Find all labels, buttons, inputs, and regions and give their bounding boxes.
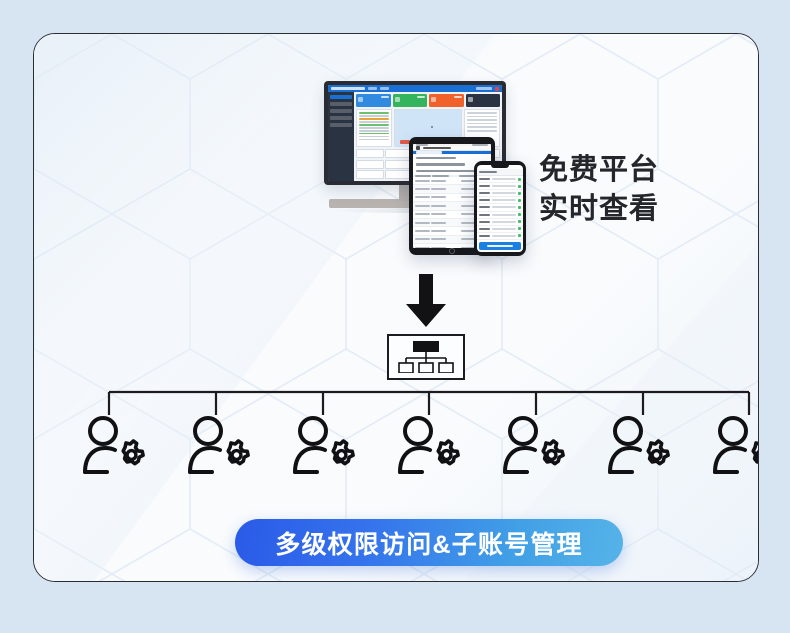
- phone-screen: [477, 165, 523, 252]
- user-gear-icon[interactable]: [711, 414, 759, 476]
- phone-header: [477, 169, 523, 176]
- detail-line: [467, 119, 497, 121]
- close-icon: [495, 87, 499, 91]
- device-tile: [356, 160, 384, 169]
- headline-line-1: 免费平台: [539, 151, 659, 190]
- list-item: [477, 183, 523, 190]
- list-item: [477, 197, 523, 204]
- tree-node: [359, 136, 389, 138]
- tree-node: [359, 112, 389, 114]
- status-ok-icon: [518, 213, 521, 216]
- user-gear-icon[interactable]: [81, 414, 147, 476]
- page-title: 免费平台 实时查看: [539, 151, 659, 229]
- list-item: [477, 204, 523, 211]
- monitor-sidebar: [328, 92, 354, 181]
- user-gear-icon[interactable]: [396, 414, 462, 476]
- info-line: [416, 163, 465, 166]
- list-item: [477, 176, 523, 183]
- sidebar-item: [330, 95, 352, 99]
- user-gear-icon[interactable]: [501, 414, 567, 476]
- stat-card-icon: [468, 97, 473, 102]
- menu-item-icon: [368, 87, 377, 90]
- headline-line-2: 实时查看: [539, 190, 659, 229]
- status-ok-icon: [518, 192, 521, 195]
- sidebar-item: [330, 123, 352, 127]
- user-icon-row: [67, 414, 759, 486]
- back-icon: [416, 146, 420, 150]
- detail-line: [467, 116, 497, 118]
- stat-card-orange: [429, 94, 464, 107]
- connector-tree: [67, 359, 759, 419]
- status-ok-icon: [518, 227, 521, 230]
- feature-banner-label: 多级权限访问&子账号管理: [275, 525, 582, 561]
- user-area-icon: [476, 87, 492, 90]
- tree-node: [359, 139, 389, 141]
- tree-node: [359, 124, 389, 126]
- down-arrow-icon: [405, 274, 447, 328]
- tree-node: [359, 115, 389, 117]
- list-item: [477, 233, 523, 240]
- status-ok-icon: [518, 199, 521, 202]
- tree-node: [359, 118, 389, 120]
- info-line: [416, 170, 475, 173]
- tablet-page-title: [423, 147, 451, 150]
- stat-card-value: [381, 96, 389, 98]
- sidebar-item: [330, 116, 352, 120]
- map-marker-icon: [431, 126, 433, 128]
- device-tile: [356, 149, 384, 158]
- stat-card-value: [454, 96, 462, 98]
- info-line: [416, 157, 456, 160]
- sidebar-item: [330, 102, 352, 106]
- detail-line: [467, 130, 497, 132]
- list-item: [477, 212, 523, 219]
- status-ok-icon: [518, 220, 521, 223]
- list-item: [477, 190, 523, 197]
- phone-button-label: [487, 245, 513, 247]
- stat-card-dark: [466, 94, 501, 107]
- phone-list: [477, 176, 523, 240]
- monitor-app-topbar: [328, 85, 502, 92]
- status-ok-icon: [518, 178, 521, 181]
- stat-card-icon: [358, 97, 363, 102]
- status-ok-icon: [518, 206, 521, 209]
- detail-line: [467, 112, 497, 114]
- stat-card-icon: [431, 97, 436, 102]
- stat-card-row: [354, 92, 502, 109]
- detail-line: [467, 123, 497, 125]
- user-gear-icon[interactable]: [291, 414, 357, 476]
- smartphone-device: [474, 161, 526, 256]
- stat-card-value: [417, 96, 425, 98]
- device-tile: [356, 170, 384, 179]
- user-gear-icon[interactable]: [606, 414, 672, 476]
- device-tree-panel: [356, 109, 392, 147]
- device-cluster: [289, 79, 519, 264]
- status-ok-icon: [518, 234, 521, 237]
- list-item: [477, 219, 523, 226]
- list-item: [477, 226, 523, 233]
- status-ok-icon: [518, 185, 521, 188]
- app-logo-icon: [331, 87, 365, 90]
- stat-card-icon: [395, 97, 400, 102]
- detail-line: [467, 126, 497, 128]
- tree-node: [359, 127, 389, 129]
- phone-primary-button: [479, 242, 521, 250]
- tree-node: [359, 130, 389, 132]
- stat-card-green: [393, 94, 428, 107]
- phone-page-title: [479, 171, 497, 173]
- feature-card: 免费平台 实时查看: [33, 33, 759, 582]
- tree-node: [359, 121, 389, 123]
- menu-item-icon: [380, 87, 389, 90]
- tree-node: [359, 133, 389, 135]
- home-button-icon: [449, 248, 455, 254]
- feature-banner-pill[interactable]: 多级权限访问&子账号管理: [235, 519, 623, 566]
- sidebar-item: [330, 109, 352, 113]
- stat-card-blue: [356, 94, 391, 107]
- user-gear-icon[interactable]: [186, 414, 252, 476]
